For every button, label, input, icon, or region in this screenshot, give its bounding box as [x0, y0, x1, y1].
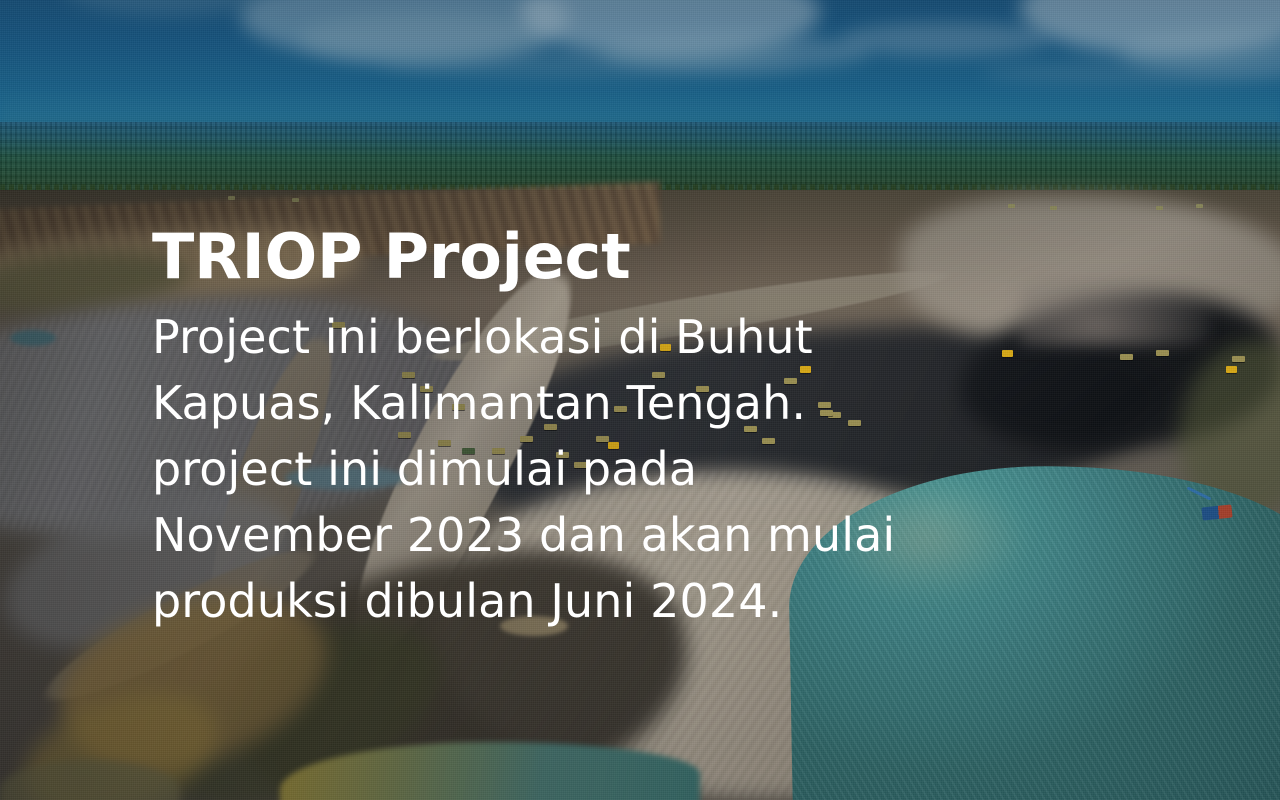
description-line: produksi dibulan Juni 2024.	[152, 568, 912, 634]
slide-canvas: TRIOP Project Project ini berlokasi di B…	[0, 0, 1280, 800]
slide-text-block: TRIOP Project Project ini berlokasi di B…	[152, 226, 912, 634]
cloud	[840, 22, 1050, 56]
dump-truck	[1232, 356, 1245, 362]
cloud	[980, 60, 1280, 86]
dump-truck	[1120, 354, 1133, 360]
equipment-speck	[228, 196, 235, 200]
slide-description: Project ini berlokasi di Buhut Kapuas, K…	[152, 288, 912, 634]
dump-truck	[1156, 350, 1169, 356]
dust-plume	[1020, 276, 1210, 346]
equipment-speck	[1196, 204, 1203, 208]
equipment-speck	[1050, 206, 1057, 210]
equipment-speck	[292, 198, 299, 202]
excavator	[1226, 366, 1237, 373]
excavator	[1002, 350, 1013, 357]
description-line: project ini dimulai pada	[152, 436, 912, 502]
description-line: Project ini berlokasi di Buhut	[152, 304, 912, 370]
description-line: Kapuas, Kalimantan Tengah.	[152, 370, 912, 436]
sky	[0, 0, 1280, 136]
equipment-speck	[1156, 206, 1163, 210]
cloud	[380, 48, 800, 78]
equipment-speck	[1008, 204, 1015, 208]
page-title: TRIOP Project	[152, 226, 912, 288]
small-pond	[10, 330, 56, 346]
description-line: November 2023 dan akan mulai	[152, 502, 912, 568]
